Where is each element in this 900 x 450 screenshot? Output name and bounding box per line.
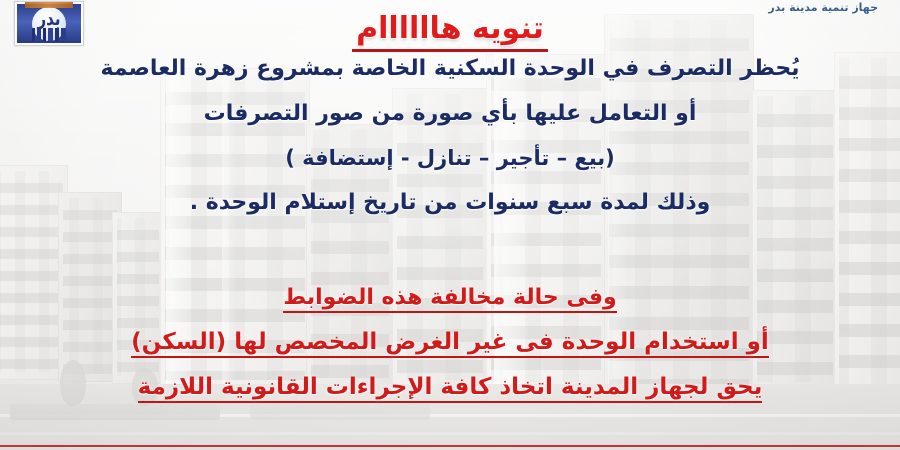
warning-line-text: يحق لجهاز المدينة اتخاذ كافة الإجراءات ا… — [138, 375, 763, 403]
warning-line: أو استخدام الوحدة فى غير الغرض المخصص له… — [0, 330, 900, 358]
logo-top-strip — [25, 2, 73, 8]
headline-container: تنويه هاااااام — [0, 12, 900, 52]
warning-line-text: أو استخدام الوحدة فى غير الغرض المخصص له… — [131, 330, 769, 358]
warning-text-block: وفى حالة مخالفة هذه الضوابط أو استخدام ا… — [0, 286, 900, 403]
body-line: يُحظر التصرف في الوحدة السكنية الخاصة بم… — [0, 58, 900, 80]
warning-line-text: وفى حالة مخالفة هذه الضوابط — [283, 286, 616, 313]
poster-content: بدر جهاز تنمية مدينة بدر تنويه هاااااام … — [0, 0, 900, 450]
body-line: وذلك لمدة سبع سنوات من تاريخ إستلام الوح… — [0, 192, 900, 214]
bottom-divider — [0, 445, 900, 447]
body-line: (بيع – تأجير – تنازل - إستضافة ) — [0, 148, 900, 169]
body-text-block: يُحظر التصرف في الوحدة السكنية الخاصة بم… — [0, 58, 900, 240]
warning-line: وفى حالة مخالفة هذه الضوابط — [0, 286, 900, 313]
notice-poster: بدر جهاز تنمية مدينة بدر تنويه هاااااام … — [0, 0, 900, 450]
warning-line: يحق لجهاز المدينة اتخاذ كافة الإجراءات ا… — [0, 375, 900, 403]
body-line: أو التعامل عليها بأي صورة من صور التصرفا… — [0, 103, 900, 125]
page-title: تنويه هاااااام — [352, 12, 548, 52]
